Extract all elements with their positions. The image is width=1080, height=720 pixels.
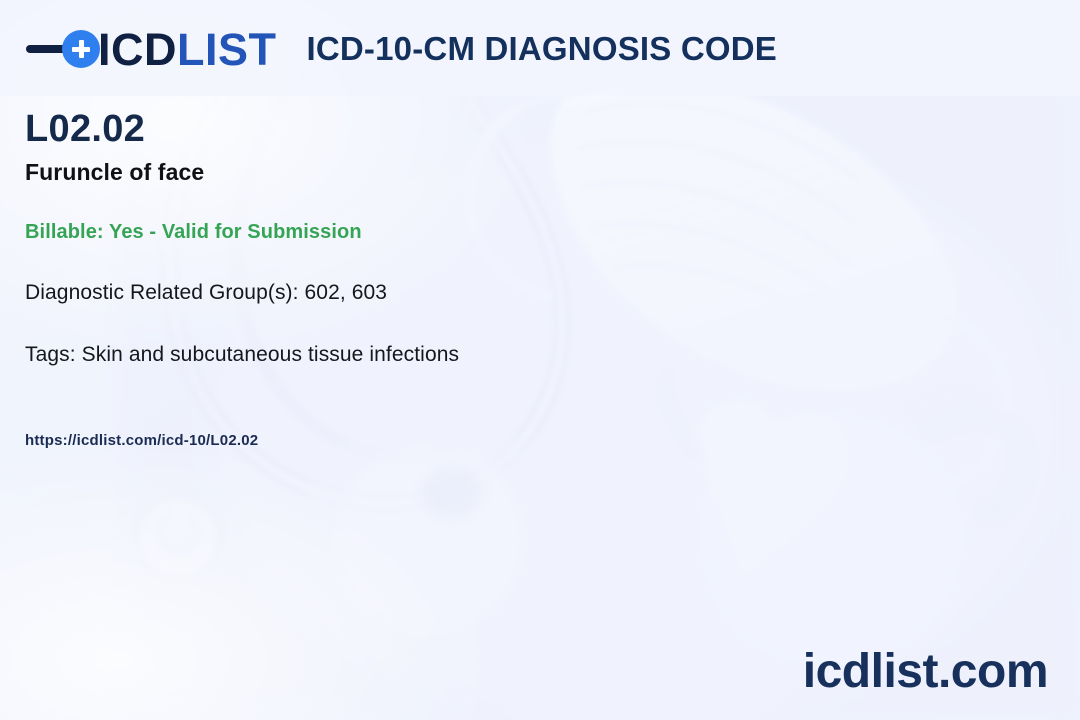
billable-status-badge: Billable: Yes - Valid for Submission	[25, 221, 925, 244]
tags-line: Tags: Skin and subcutaneous tissue infec…	[25, 343, 925, 367]
code-details: L02.02 Furuncle of face Billable: Yes - …	[25, 110, 925, 449]
logo-wordmark-primary: ICD	[98, 24, 177, 75]
poster-header: ICDLIST ICD-10-CM DIAGNOSIS CODE	[0, 0, 1080, 98]
poster-canvas: ICDLIST ICD-10-CM DIAGNOSIS CODE L02.02 …	[0, 0, 1080, 720]
icdlist-logo[interactable]: ICDLIST	[26, 21, 277, 77]
diagnosis-code: L02.02	[25, 110, 925, 150]
footer-wordmark: icdlist.com	[803, 648, 1048, 696]
logo-wordmark-secondary: LIST	[177, 24, 277, 75]
logo-wordmark: ICDLIST	[98, 27, 277, 72]
diagnosis-description: Furuncle of face	[25, 159, 925, 186]
plus-icon	[62, 30, 100, 68]
plus-icon-vertical-bar	[79, 40, 84, 58]
page-title: ICD-10-CM DIAGNOSIS CODE	[307, 30, 778, 68]
diagnostic-related-groups: Diagnostic Related Group(s): 602, 603	[25, 281, 925, 305]
source-url[interactable]: https://icdlist.com/icd-10/L02.02	[25, 432, 925, 449]
